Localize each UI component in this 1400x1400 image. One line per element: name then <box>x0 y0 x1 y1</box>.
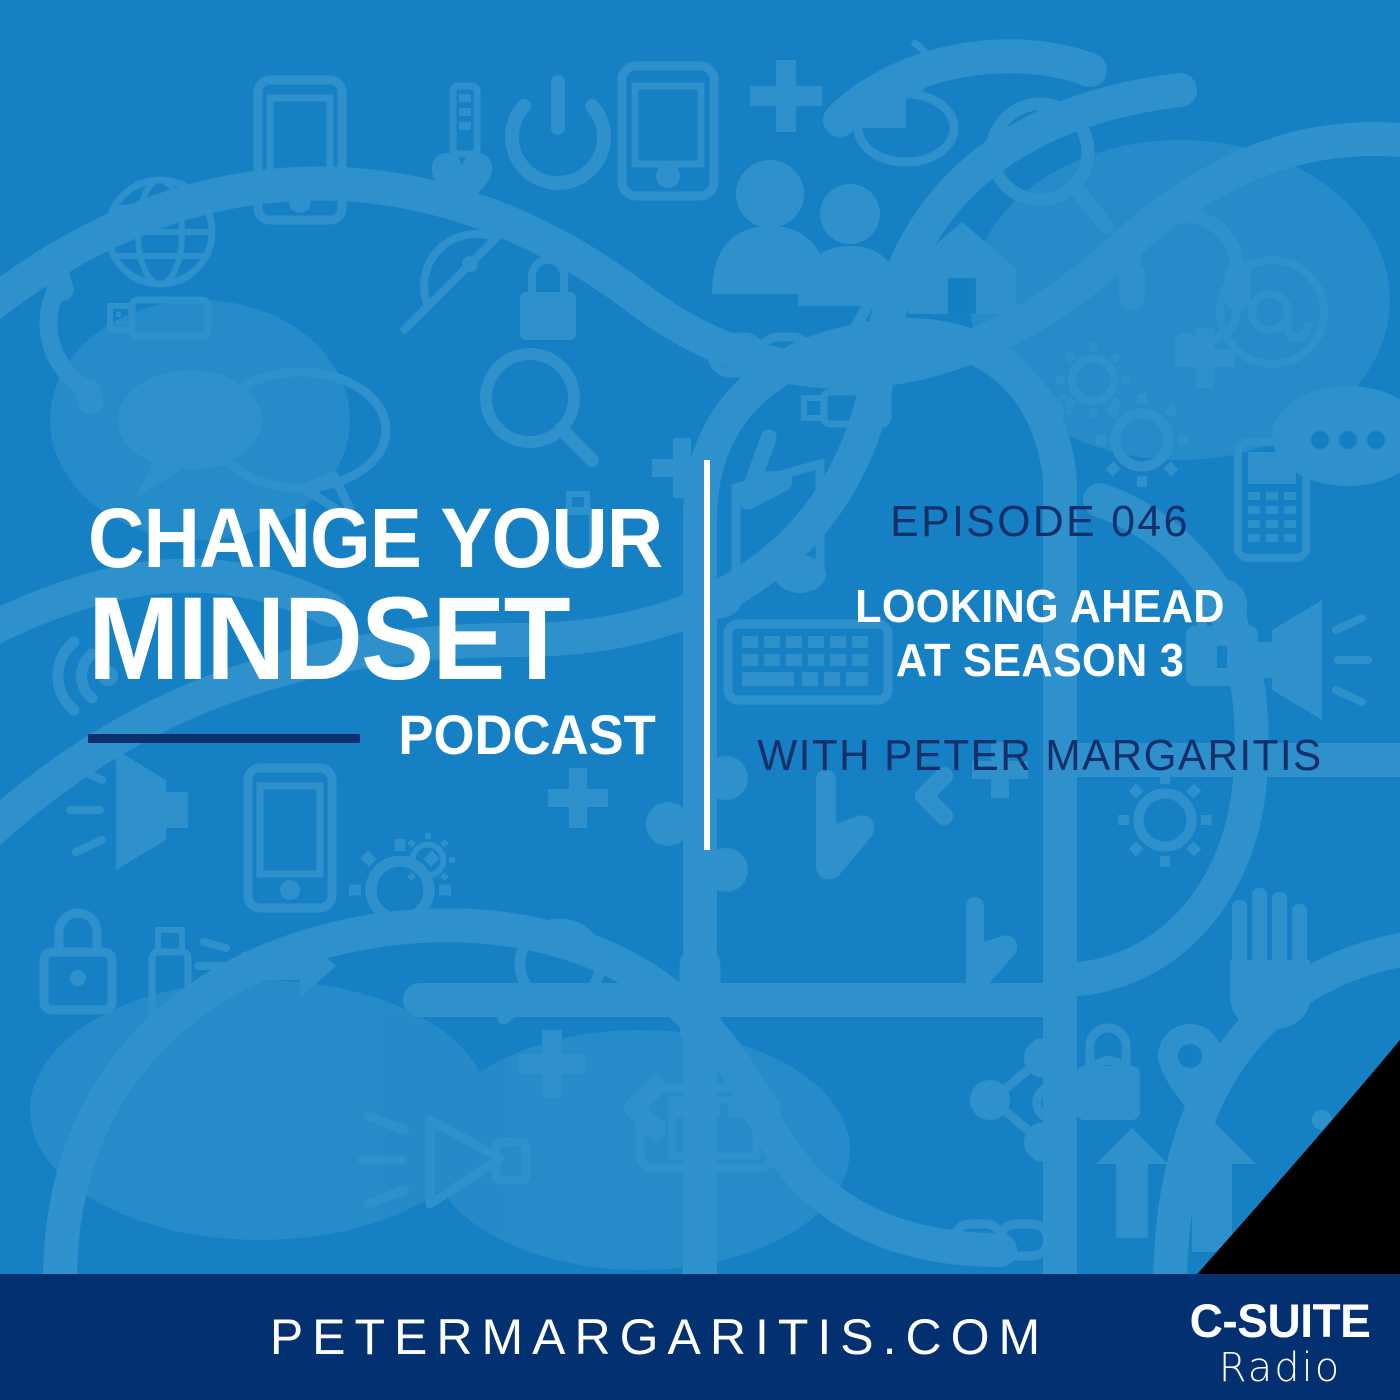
c-suite-logo-radio: Radio <box>1184 1348 1376 1388</box>
title-underline-rule <box>88 734 360 743</box>
c-suite-logo-wordmark: C-SUITE <box>1186 1297 1374 1344</box>
title-line-mindset: MINDSET <box>88 583 637 695</box>
episode-host: WITH PETER MARGARITIS <box>752 734 1328 778</box>
episode-title-line-2: AT SEASON 3 <box>758 633 1322 687</box>
show-title-block: CHANGE YOUR MINDSET PODCAST <box>88 500 678 767</box>
podcast-cover-artwork: CHANGE YOUR MINDSET PODCAST EPISODE 046 … <box>0 0 1400 1400</box>
episode-number: EPISODE 046 <box>749 500 1331 544</box>
c-suite-radio-logo[interactable]: C-SUITE Radio <box>1184 1297 1376 1388</box>
c-suite-logo-radio-text: Radio <box>1184 1348 1376 1388</box>
website-url[interactable]: PETERMARGARITIS.COM <box>0 1274 1310 1400</box>
ellipsis-bubble-icon <box>1312 1110 1388 1130</box>
episode-title-line-1: LOOKING AHEAD <box>758 579 1322 633</box>
title-line-podcast: PODCAST <box>399 707 656 763</box>
episode-info-block: EPISODE 046 LOOKING AHEAD AT SEASON 3 WI… <box>740 500 1340 778</box>
podcast-row: PODCAST <box>88 707 656 767</box>
title-line-change-your: CHANGE YOUR <box>88 500 637 577</box>
episode-title: LOOKING AHEAD AT SEASON 3 <box>758 579 1322 688</box>
vertical-divider <box>704 460 710 850</box>
